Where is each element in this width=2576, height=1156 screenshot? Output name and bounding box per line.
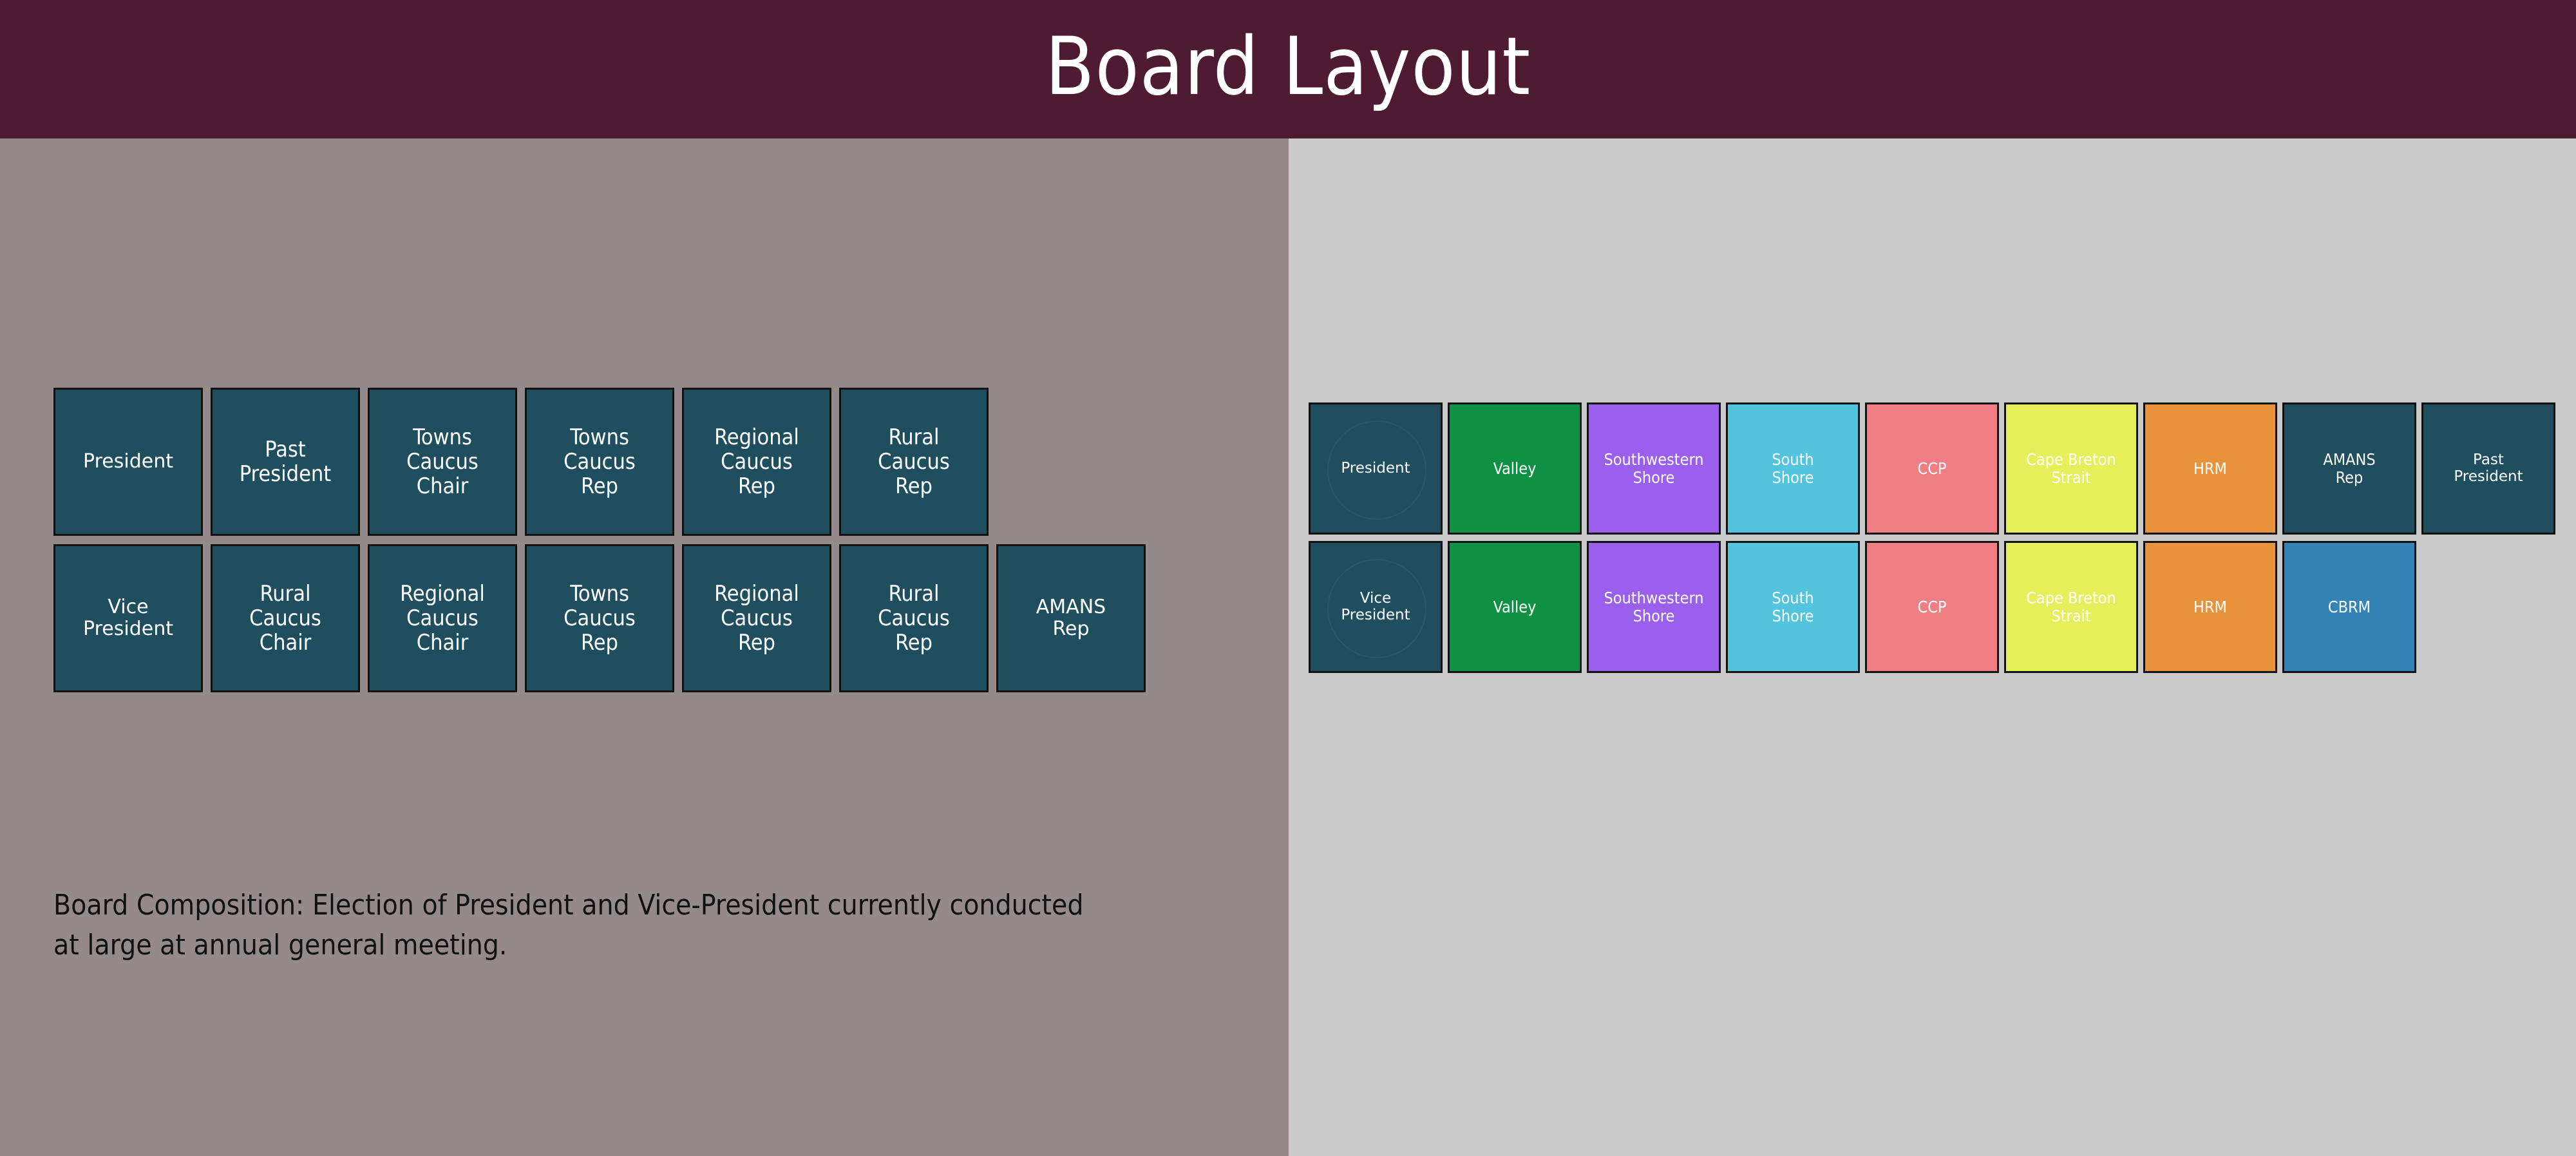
board-row: VicePresidentRuralCaucusChairRegionalCau… [53, 544, 1146, 692]
board-seat-label: CCP [1918, 460, 1947, 478]
board-seat-label: RuralCaucusRep [878, 582, 950, 655]
board-seat-label: AMANSRep [2323, 451, 2375, 487]
board-seat-label: SouthwesternShore [1604, 589, 1703, 625]
left-board-grid: PresidentPastPresidentTownsCaucusChairTo… [53, 388, 1146, 692]
board-seat-label: PastPresident [240, 437, 332, 486]
board-seat-label: RuralCaucusChair [249, 582, 321, 655]
board-seat-tile[interactable]: HRM [2143, 541, 2277, 673]
board-seat-tile[interactable]: HRM [2143, 403, 2277, 535]
board-seat-tile[interactable]: AMANSRep [2282, 403, 2416, 535]
board-seat-tile[interactable]: VicePresident [1309, 541, 1443, 673]
board-seat-tile[interactable]: Valley [1448, 403, 1582, 535]
board-seat-label: CCP [1918, 598, 1947, 616]
board-seat-label: PastPresident [2454, 452, 2523, 486]
board-seat-tile[interactable]: Valley [1448, 541, 1582, 673]
board-seat-label: SouthwesternShore [1604, 451, 1703, 487]
board-seat-label: TownsCaucusRep [563, 425, 636, 498]
board-seat-tile[interactable]: SouthwesternShore [1587, 541, 1721, 673]
right-board-grid: PresidentValleySouthwesternShoreSouthSho… [1309, 403, 2555, 673]
board-seat-label: VicePresident [83, 596, 173, 640]
board-seat-tile[interactable]: SouthShore [1726, 541, 1860, 673]
board-seat-label: Cape BretonStrait [2026, 451, 2116, 487]
board-seat-tile[interactable]: CCP [1865, 403, 1999, 535]
board-seat-label: RuralCaucusRep [878, 425, 950, 498]
board-seat-label: President [1341, 460, 1410, 477]
board-seat-label: TownsCaucusRep [563, 582, 636, 655]
board-seat-label: Valley [1493, 460, 1537, 478]
board-seat-tile[interactable]: SouthwesternShore [1587, 403, 1721, 535]
board-seat-tile[interactable]: RegionalCaucusRep [682, 544, 831, 692]
slide-canvas: Board Layout PresidentPastPresidentTowns… [0, 0, 2576, 1156]
board-seat-label: Cape BretonStrait [2026, 589, 2116, 625]
board-seat-tile[interactable]: PastPresident [2421, 403, 2555, 535]
board-seat-label: SouthShore [1772, 451, 1814, 487]
board-seat-tile[interactable]: President [1309, 403, 1443, 535]
board-seat-label: RegionalCaucusRep [714, 582, 799, 655]
board-seat-label: HRM [2193, 598, 2227, 616]
left-board-composition-caption: Board Composition: Election of President… [53, 886, 1110, 966]
grid-spacer [996, 388, 1146, 536]
board-seat-tile[interactable]: VicePresident [53, 544, 203, 692]
board-seat-label: AMANSRep [1036, 596, 1106, 640]
board-seat-label: Valley [1493, 598, 1537, 616]
board-seat-tile[interactable]: CBRM [2282, 541, 2416, 673]
board-seat-tile[interactable]: TownsCaucusChair [368, 388, 517, 536]
left-panel: PresidentPastPresidentTownsCaucusChairTo… [0, 138, 1289, 1156]
page-title: Board Layout [1045, 27, 1531, 107]
board-seat-label: VicePresident [1341, 591, 1410, 624]
board-seat-label: SouthShore [1772, 589, 1814, 625]
board-seat-label: CBRM [2328, 598, 2371, 616]
board-row: PresidentValleySouthwesternShoreSouthSho… [1309, 403, 2555, 535]
slide-header: Board Layout [0, 0, 2576, 138]
board-seat-tile[interactable]: Cape BretonStrait [2004, 403, 2138, 535]
board-seat-tile[interactable]: TownsCaucusRep [525, 388, 674, 536]
board-seat-tile[interactable]: PastPresident [211, 388, 360, 536]
board-seat-tile[interactable]: RegionalCaucusRep [682, 388, 831, 536]
board-seat-tile[interactable]: Cape BretonStrait [2004, 541, 2138, 673]
right-panel: PresidentValleySouthwesternShoreSouthSho… [1289, 138, 2576, 1156]
board-seat-tile[interactable]: AMANSRep [996, 544, 1146, 692]
board-seat-label: RegionalCaucusChair [400, 582, 485, 655]
board-seat-tile[interactable]: RuralCaucusChair [211, 544, 360, 692]
board-seat-tile[interactable]: CCP [1865, 541, 1999, 673]
board-seat-tile[interactable]: RuralCaucusRep [839, 388, 989, 536]
board-seat-tile[interactable]: RuralCaucusRep [839, 544, 989, 692]
board-seat-label: TownsCaucusChair [406, 425, 478, 498]
board-seat-tile[interactable]: TownsCaucusRep [525, 544, 674, 692]
board-seat-label: RegionalCaucusRep [714, 425, 799, 498]
board-seat-label: HRM [2193, 460, 2227, 478]
board-seat-tile[interactable]: President [53, 388, 203, 536]
board-seat-label: President [83, 451, 173, 473]
board-row: PresidentPastPresidentTownsCaucusChairTo… [53, 388, 1146, 536]
board-seat-tile[interactable]: RegionalCaucusChair [368, 544, 517, 692]
board-row: VicePresidentValleySouthwesternShoreSout… [1309, 541, 2555, 673]
board-seat-tile[interactable]: SouthShore [1726, 403, 1860, 535]
